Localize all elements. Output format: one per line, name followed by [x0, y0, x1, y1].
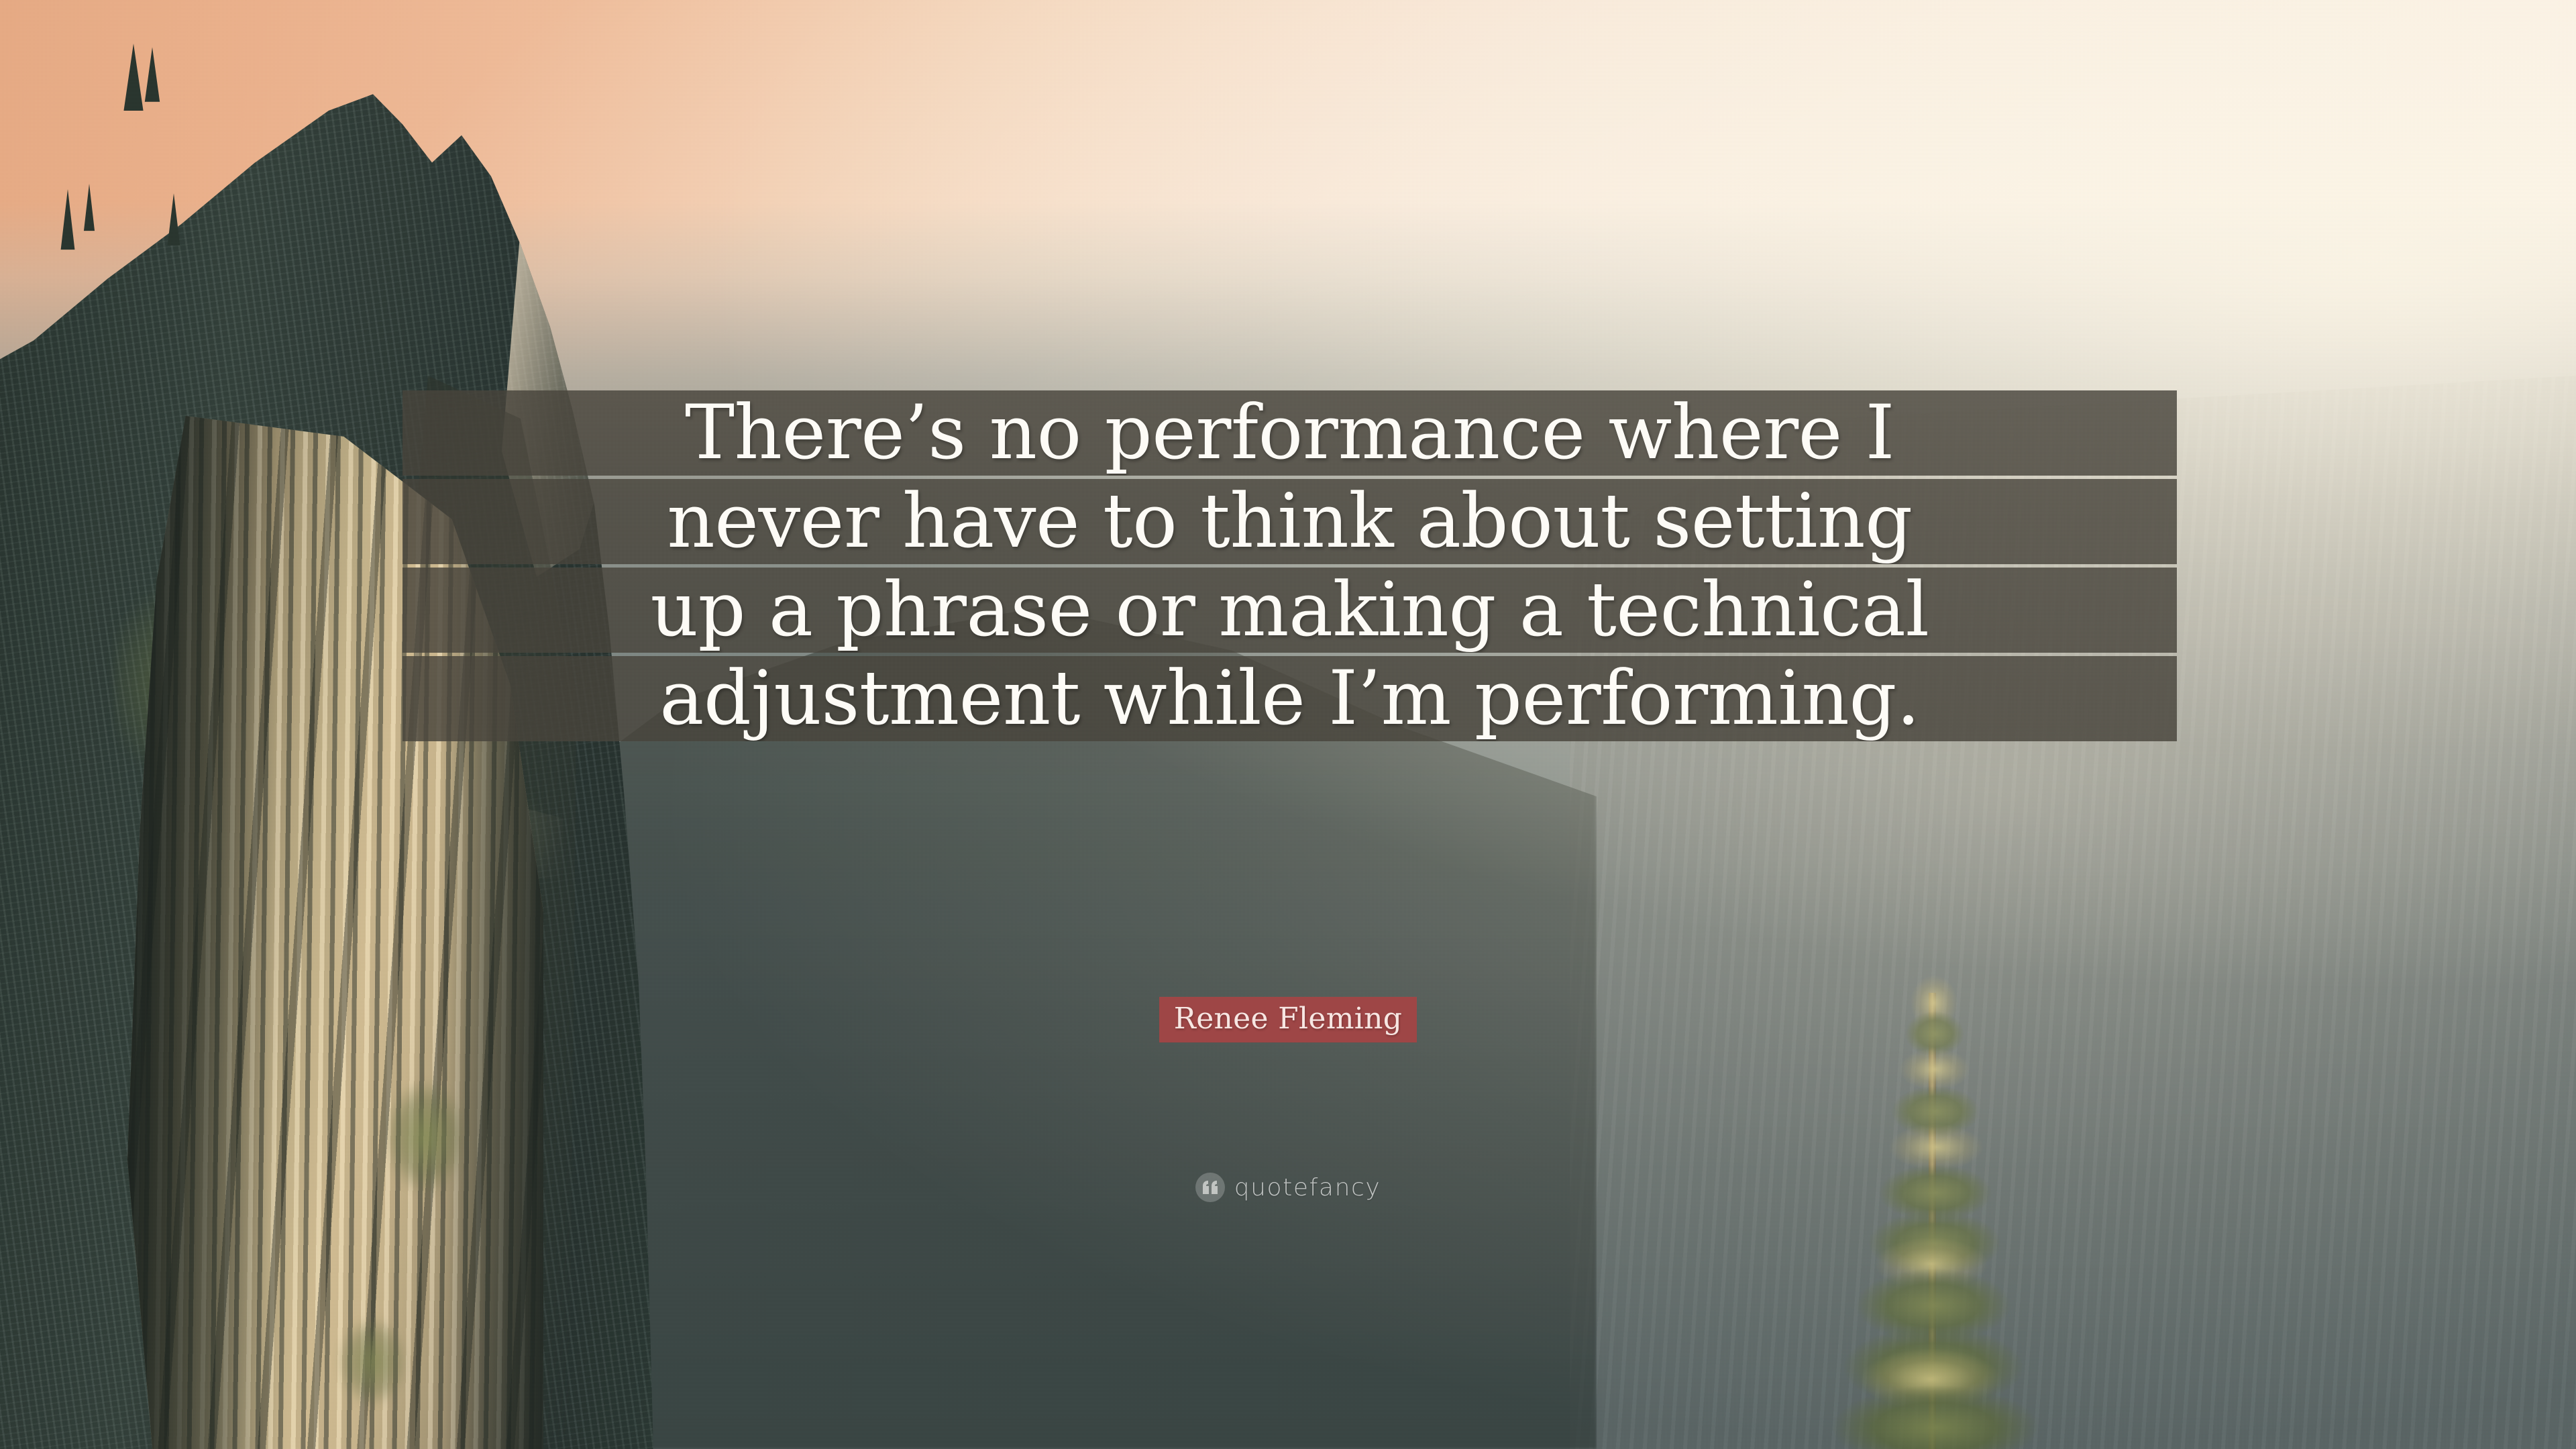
quote-line: never have to think about setting	[402, 479, 2177, 564]
quote-poster: There’s no performance where I never hav…	[0, 0, 2576, 1449]
ridgeline-conifer-icon	[84, 184, 95, 231]
ridgeline-conifer-icon	[145, 47, 160, 101]
attribution: Renee Fleming	[0, 997, 2576, 1042]
ridgeline-conifer-icon	[123, 44, 143, 111]
quote-text-block: There’s no performance where I never hav…	[402, 390, 2177, 741]
quote-line: adjustment while I’m performing.	[402, 656, 2177, 741]
watermark-text: quotefancy	[1234, 1174, 1381, 1201]
author-badge: Renee Fleming	[1159, 997, 1417, 1042]
watermark: quotefancy	[0, 1173, 2576, 1202]
ridgeline-conifer-icon	[61, 189, 75, 250]
quote-line: up a phrase or making a technical	[402, 568, 2177, 653]
ridgeline-conifer-icon	[168, 193, 180, 246]
quote-line: There’s no performance where I	[402, 390, 2177, 476]
quote-mark-icon	[1195, 1173, 1225, 1202]
spire-vegetation-lower	[329, 1301, 416, 1422]
